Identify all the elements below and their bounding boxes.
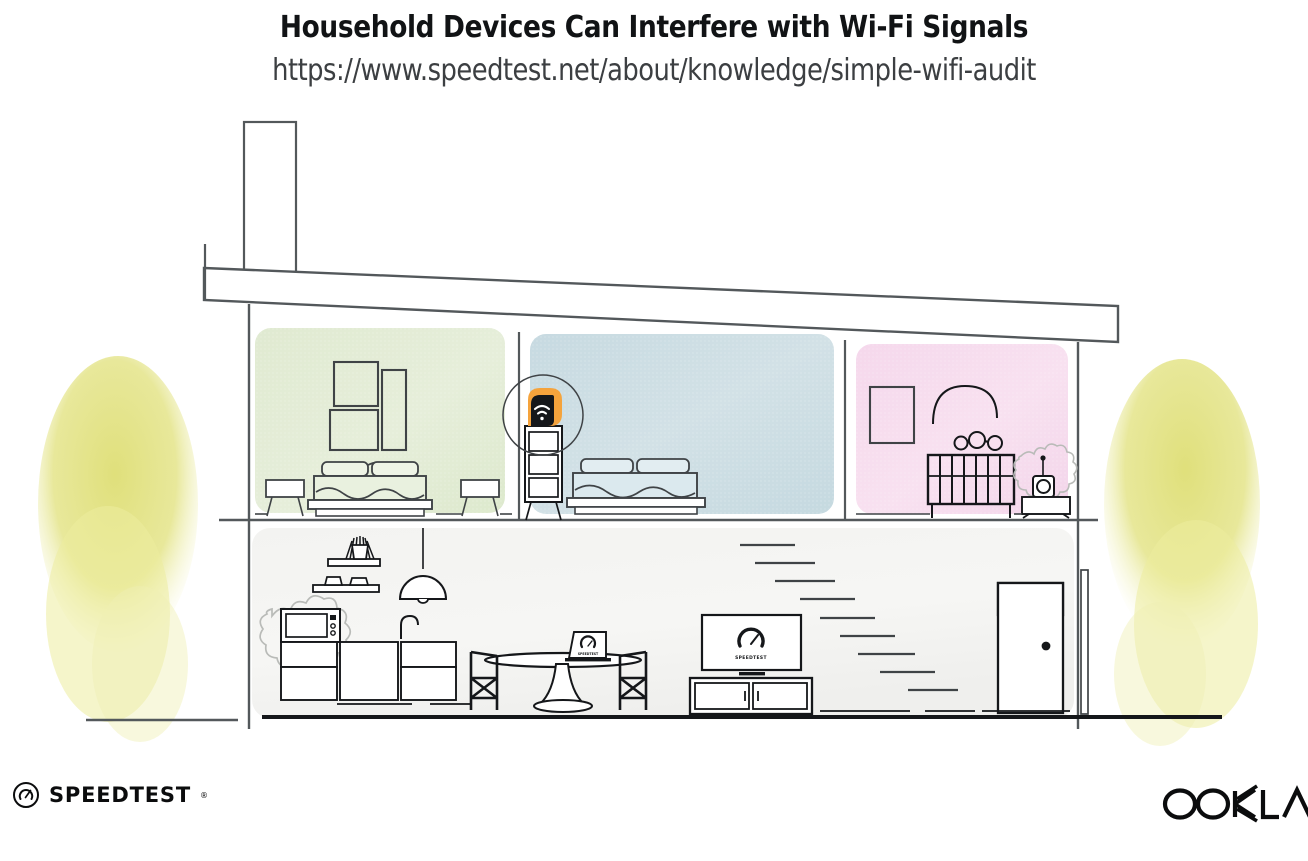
ookla-logo-icon: ® — [1158, 779, 1308, 825]
page-root: Household Devices Can Interfere with Wi-… — [0, 0, 1308, 861]
foliage-left — [38, 356, 198, 742]
room-kitchen-living: SPEEDTEST SPEEDTEST — [252, 528, 1088, 718]
foliage-right — [1104, 359, 1260, 746]
svg-text:SPEEDTEST: SPEEDTEST — [578, 652, 599, 656]
speedtest-trademark: ® — [200, 791, 208, 800]
svg-text:SPEEDTEST: SPEEDTEST — [735, 655, 767, 661]
room-nursery — [856, 344, 1077, 518]
page-title: Household Devices Can Interfere with Wi-… — [78, 10, 1229, 45]
wifi-router[interactable] — [528, 388, 562, 426]
microwave — [281, 609, 340, 642]
media-console — [690, 678, 812, 714]
source-url: https://www.speedtest.net/about/knowledg… — [92, 53, 1217, 88]
exterior-post — [1081, 570, 1088, 714]
footer: SPEEDTEST ® ® OOKLA — [0, 761, 1308, 861]
chimney — [244, 122, 296, 272]
roof — [204, 244, 1118, 342]
speedtest-wordmark: SPEEDTEST — [49, 783, 191, 807]
front-door[interactable] — [998, 583, 1063, 713]
nightstand-nursery — [1022, 497, 1070, 518]
house-illustration: SPEEDTEST — [0, 104, 1308, 754]
door-knob-icon[interactable] — [1042, 642, 1051, 651]
speedtest-logo[interactable]: SPEEDTEST ® — [12, 781, 208, 809]
room-bedroom-left — [255, 328, 512, 516]
ookla-logo[interactable]: ® OOKLA — [1158, 779, 1308, 830]
speedtest-gauge-icon — [12, 781, 40, 809]
header: Household Devices Can Interfere with Wi-… — [0, 0, 1308, 88]
television-speedtest: SPEEDTEST — [702, 615, 801, 675]
